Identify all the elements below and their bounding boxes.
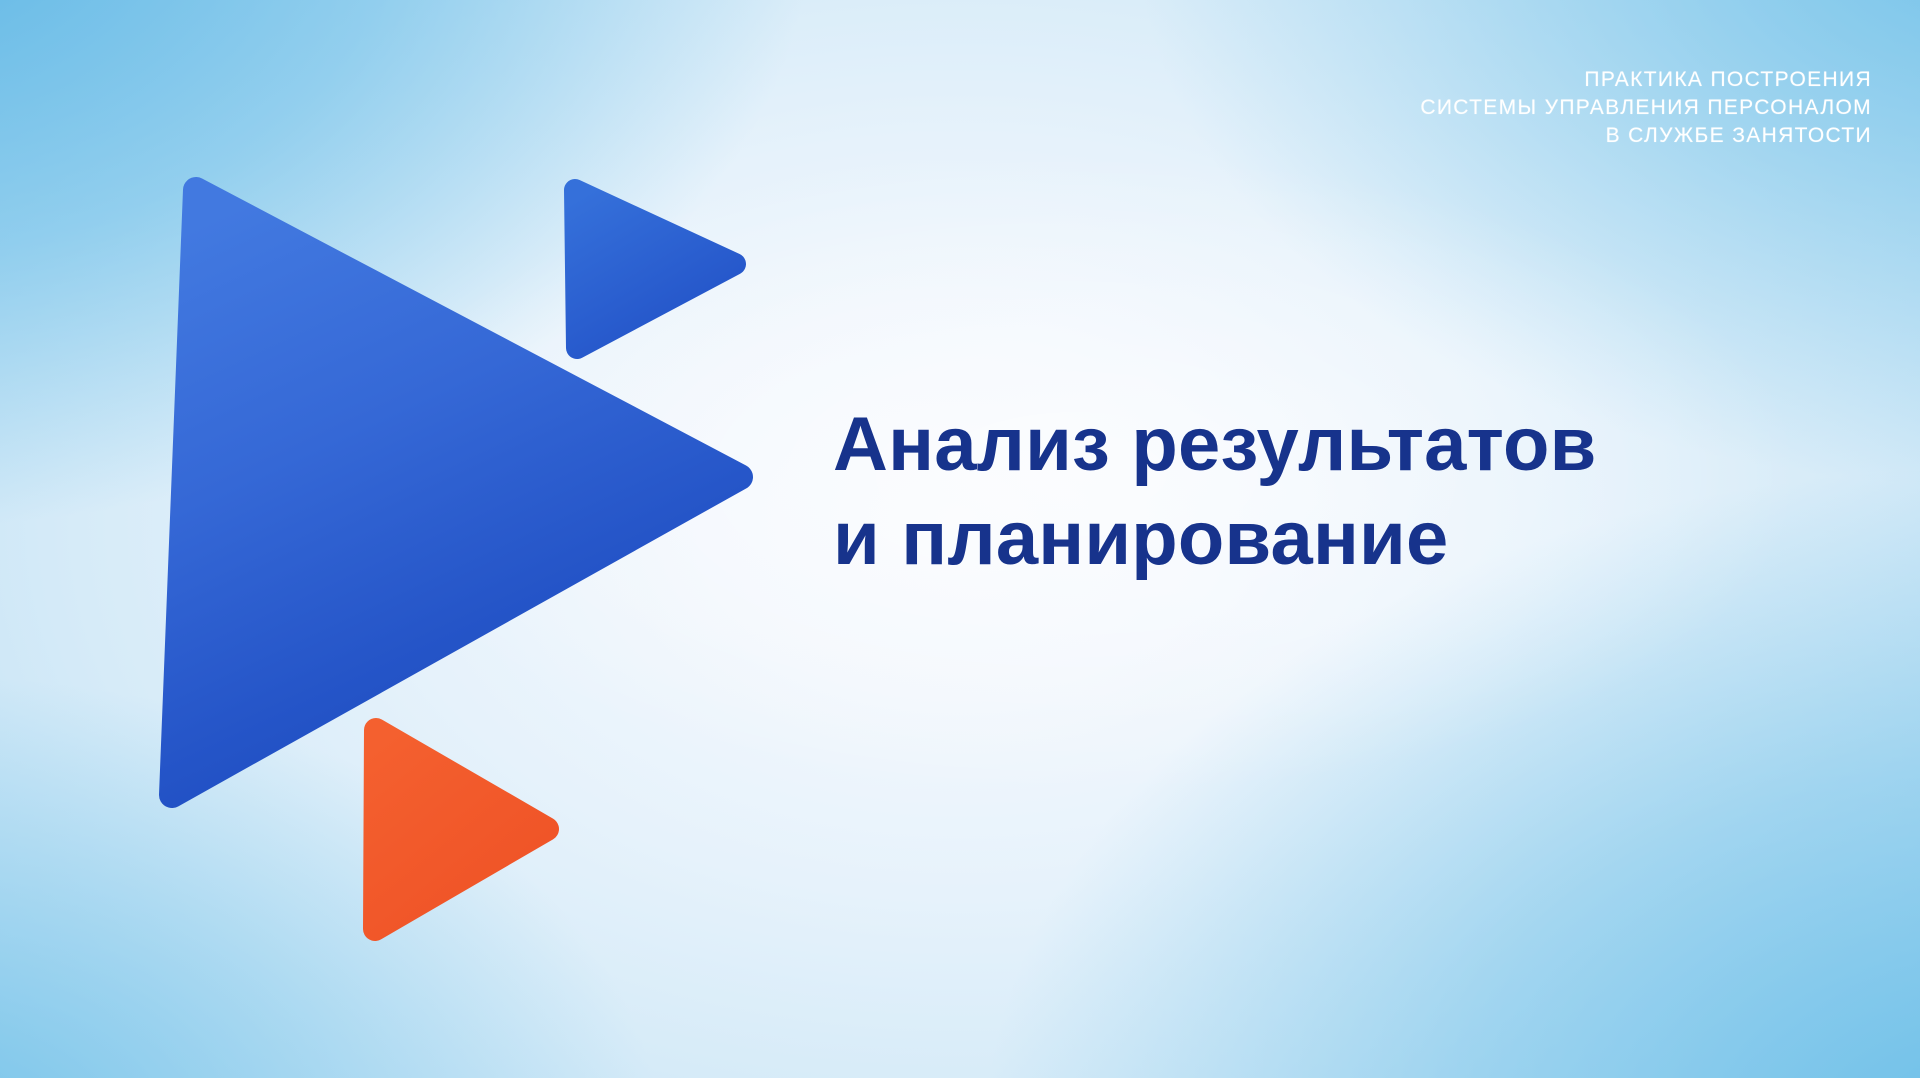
slide-title: Анализ результатов и планирование: [833, 398, 1597, 586]
presentation-slide: ПРАКТИКА ПОСТРОЕНИЯ СИСТЕМЫ УПРАВЛЕНИЯ П…: [0, 0, 1920, 1078]
deck-title-header: ПРАКТИКА ПОСТРОЕНИЯ СИСТЕМЫ УПРАВЛЕНИЯ П…: [1420, 66, 1872, 150]
header-line-3: В СЛУЖБЕ ЗАНЯТОСТИ: [1420, 122, 1872, 150]
header-line-1: ПРАКТИКА ПОСТРОЕНИЯ: [1420, 66, 1872, 94]
slide-title-line-2: и планирование: [833, 492, 1597, 586]
slide-title-line-1: Анализ результатов: [833, 398, 1597, 492]
header-line-2: СИСТЕМЫ УПРАВЛЕНИЯ ПЕРСОНАЛОМ: [1420, 94, 1872, 122]
